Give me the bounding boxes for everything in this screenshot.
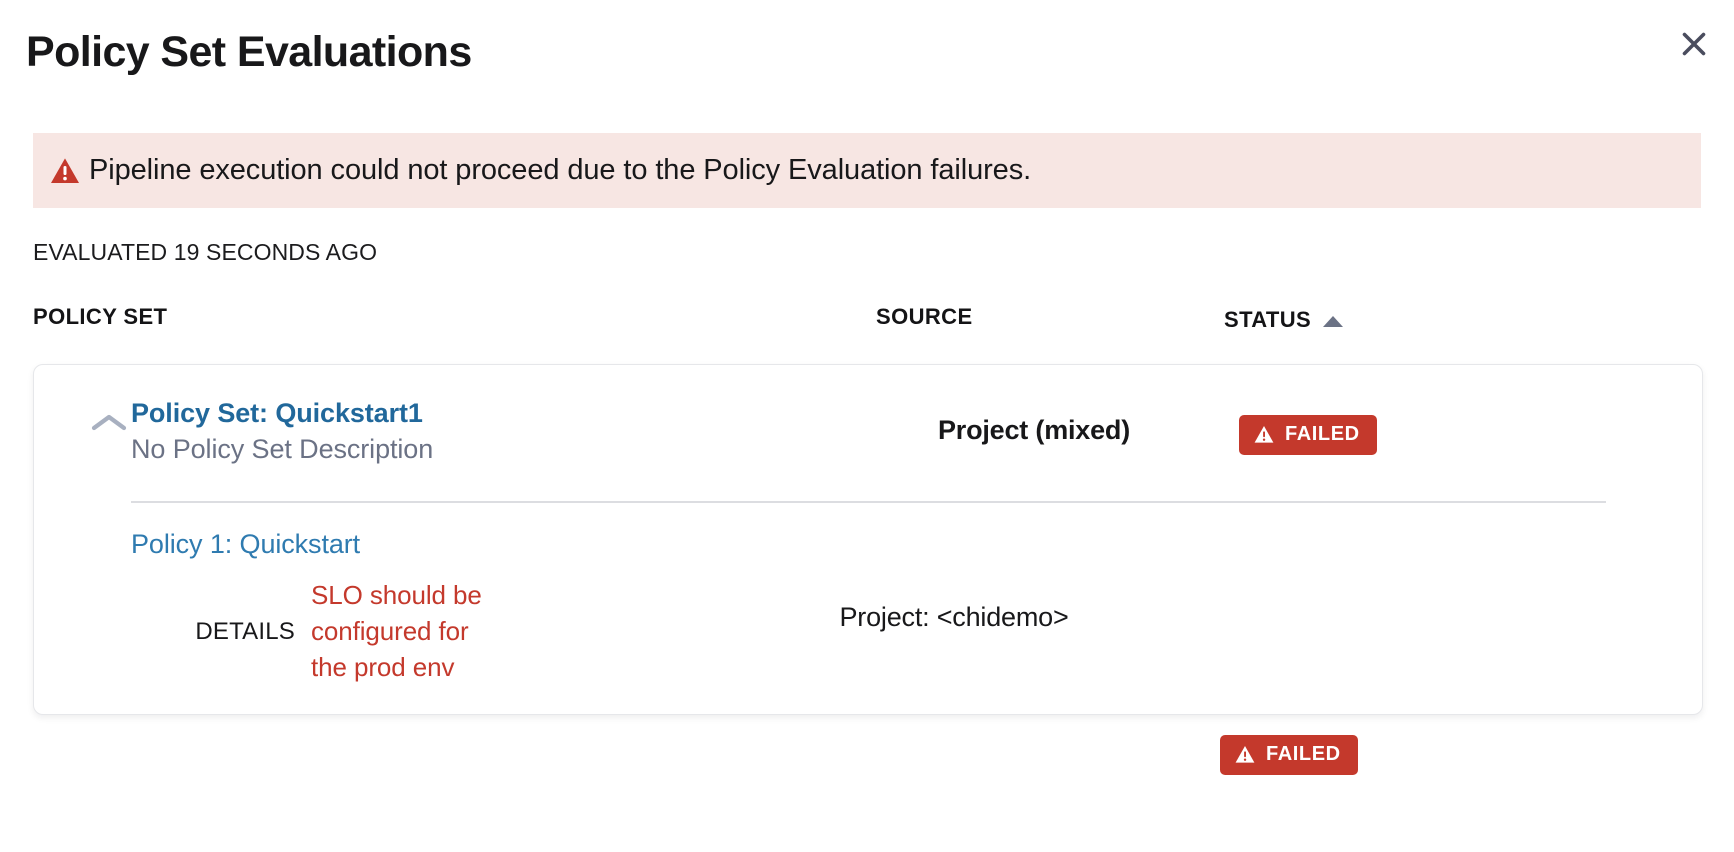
close-icon bbox=[1679, 29, 1709, 59]
policy-link[interactable]: Policy 1: Quickstart bbox=[131, 529, 360, 560]
table-row: Policy 1: Quickstart DETAILS SLO should … bbox=[34, 515, 1702, 715]
policy-details-value: SLO should be configured for the prod en… bbox=[311, 578, 486, 686]
page-title: Policy Set Evaluations bbox=[26, 28, 472, 77]
chevron-up-icon bbox=[89, 411, 129, 440]
alert-message: Pipeline execution could not proceed due… bbox=[89, 153, 1031, 188]
policy-set-evaluations-modal: Policy Set Evaluations Pipeline executio… bbox=[0, 0, 1734, 852]
close-button[interactable] bbox=[1670, 20, 1718, 68]
table-header-row: POLICY SET SOURCE STATUS bbox=[0, 300, 1734, 360]
row-divider bbox=[131, 501, 1606, 503]
policy-set-info: Policy Set: Quickstart1 No Policy Set De… bbox=[131, 396, 751, 466]
sort-ascending-icon bbox=[1323, 316, 1343, 327]
alert-banner: Pipeline execution could not proceed due… bbox=[33, 133, 1701, 208]
policy-set-status-cell: FAILED bbox=[1239, 415, 1377, 455]
warning-triangle-icon bbox=[1235, 745, 1255, 764]
warning-triangle-icon bbox=[50, 156, 80, 186]
column-header-source[interactable]: SOURCE bbox=[876, 304, 973, 330]
status-badge-label: FAILED bbox=[1285, 423, 1360, 446]
policy-details-label: DETAILS bbox=[131, 618, 311, 646]
column-header-status[interactable]: STATUS bbox=[1224, 307, 1343, 333]
policy-source: Project: <chidemo> bbox=[734, 602, 1174, 633]
status-badge-label: FAILED bbox=[1266, 743, 1341, 766]
policy-status-cell: FAILED bbox=[1220, 735, 1358, 775]
evaluated-timestamp: EVALUATED 19 SECONDS AGO bbox=[33, 239, 377, 266]
status-badge: FAILED bbox=[1239, 415, 1377, 455]
column-header-status-label: STATUS bbox=[1224, 307, 1311, 333]
policy-set-source: Project (mixed) bbox=[824, 415, 1244, 446]
table-row: Policy Set: Quickstart1 No Policy Set De… bbox=[34, 365, 1702, 495]
column-header-policy-set[interactable]: POLICY SET bbox=[33, 304, 167, 330]
expand-collapse-toggle[interactable] bbox=[88, 410, 130, 440]
status-badge: FAILED bbox=[1220, 735, 1358, 775]
modal-header: Policy Set Evaluations bbox=[0, 0, 1734, 118]
warning-triangle-icon bbox=[1254, 425, 1274, 444]
policy-set-link[interactable]: Policy Set: Quickstart1 bbox=[131, 396, 423, 431]
policy-details: DETAILS SLO should be configured for the… bbox=[131, 578, 551, 686]
policy-set-card: Policy Set: Quickstart1 No Policy Set De… bbox=[33, 364, 1703, 715]
policy-set-description: No Policy Set Description bbox=[131, 432, 751, 467]
